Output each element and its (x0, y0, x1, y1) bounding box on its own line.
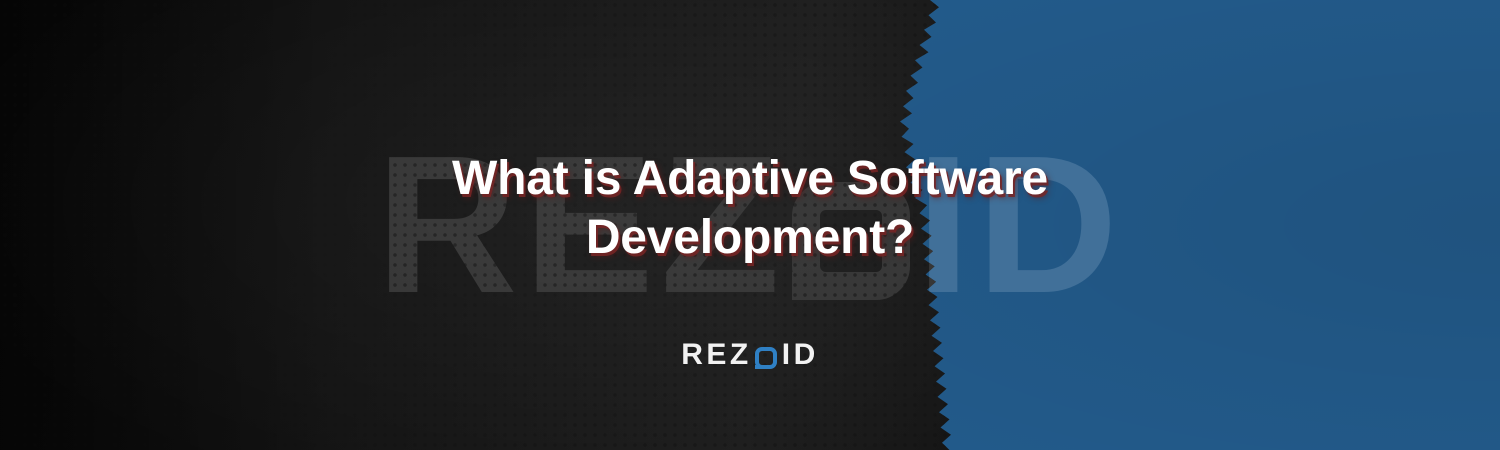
logo-text-id: ID (782, 340, 819, 370)
logo-text-rez: REZ (681, 340, 752, 370)
logo-a-icon (755, 347, 777, 369)
logo-wordmark: REZ ID (681, 340, 819, 370)
page-title: What is Adaptive Software Development? (400, 150, 1100, 267)
rezaid-logo[interactable]: REZ ID (0, 340, 1500, 370)
hero-banner: REZ ID REZ ID What is Adaptive Software … (0, 0, 1500, 450)
banner-content: What is Adaptive Software Development? (0, 0, 1500, 450)
